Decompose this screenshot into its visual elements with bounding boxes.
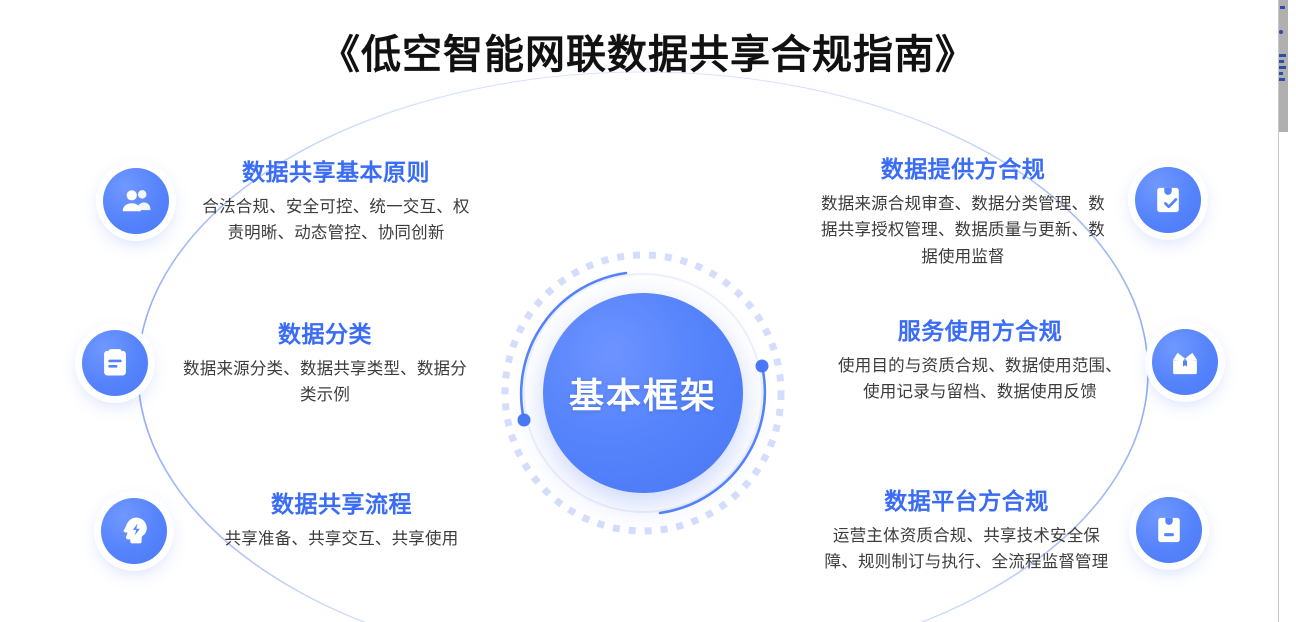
node-heading: 数据分类 [175, 320, 475, 349]
node-body: 共享准备、共享交互、共享使用 [194, 526, 489, 553]
accent-dot-top-left [518, 414, 531, 427]
center-circle[interactable]: 基本框架 [543, 293, 743, 493]
center-hub: 基本框架 [498, 248, 788, 538]
node-text: 数据提供方合规 数据来源合规审查、数据分类管理、数据共享授权管理、数据质量与更新… [818, 155, 1108, 271]
clipboard-lines-icon [98, 346, 132, 380]
node-body: 运营主体资质合规、共享技术安全保障、规则制订与执行、全流程监督管理 [824, 523, 1109, 576]
head-bolt-icon-badge[interactable] [101, 498, 167, 564]
clipboard-bar-icon [1152, 513, 1186, 547]
node-text: 数据共享流程 共享准备、共享交互、共享使用 [194, 490, 489, 552]
node-text: 数据平台方合规 运营主体资质合规、共享技术安全保障、规则制订与执行、全流程监督管… [824, 487, 1109, 576]
node-heading: 数据平台方合规 [824, 487, 1109, 516]
clipped-content-sliver [1279, 4, 1287, 100]
node-text: 服务使用方合规 使用目的与资质合规、数据使用范围、使用记录与留档、数据使用反馈 [835, 317, 1125, 406]
center-label: 基本框架 [569, 368, 717, 419]
users-icon [119, 184, 153, 218]
clipboard-check-icon [1151, 183, 1185, 217]
clipboard-lines-icon-badge[interactable] [82, 330, 148, 396]
node-body: 数据来源合规审查、数据分类管理、数据共享授权管理、数据质量与更新、数据使用监督 [818, 191, 1108, 271]
page-title: 《低空智能网联数据共享合规指南》 [0, 30, 1296, 80]
accent-dot-bottom-right [756, 360, 769, 373]
clipboard-check-icon-badge[interactable] [1135, 167, 1201, 233]
node-heading: 服务使用方合规 [835, 317, 1125, 346]
node-text: 数据分类 数据来源分类、数据共享类型、数据分类示例 [175, 320, 475, 409]
node-text: 数据共享基本原则 合法合规、安全可控、统一交互、权责明晰、动态管控、协同创新 [196, 158, 476, 247]
clipboard-bar-icon-badge[interactable] [1136, 497, 1202, 563]
infographic-canvas: 《低空智能网联数据共享合规指南》 基本框架 [0, 0, 1296, 622]
node-body: 合法合规、安全可控、统一交互、权责明晰、动态管控、协同创新 [196, 194, 476, 247]
open-box-icon [1168, 345, 1202, 379]
node-body: 使用目的与资质合规、数据使用范围、使用记录与留档、数据使用反馈 [835, 353, 1125, 406]
node-heading: 数据提供方合规 [818, 155, 1108, 184]
head-bolt-icon [117, 514, 151, 548]
node-heading: 数据共享基本原则 [196, 158, 476, 187]
open-box-icon-badge[interactable] [1152, 329, 1218, 395]
node-body: 数据来源分类、数据共享类型、数据分类示例 [175, 356, 475, 409]
users-icon-badge[interactable] [103, 168, 169, 234]
node-heading: 数据共享流程 [194, 490, 489, 519]
